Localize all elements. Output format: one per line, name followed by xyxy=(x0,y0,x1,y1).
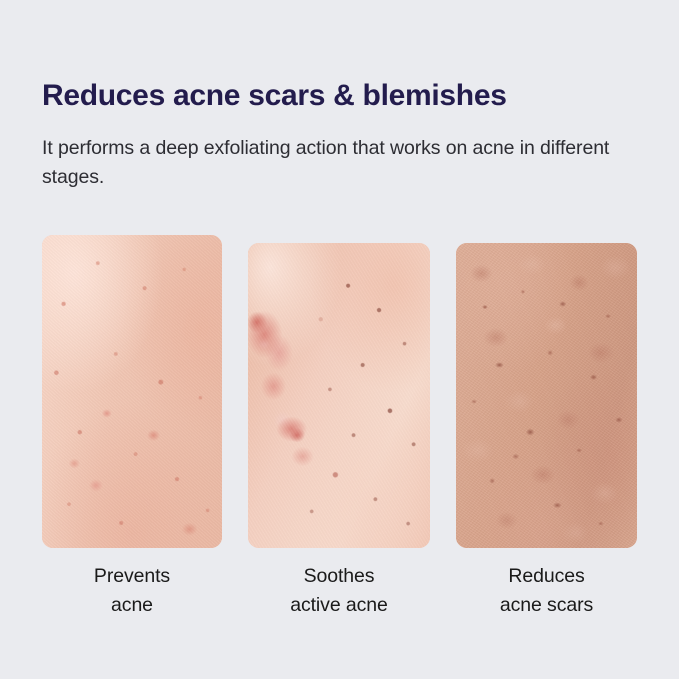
skin-close-up-image-2 xyxy=(248,243,430,548)
caption-line-1: Soothes xyxy=(248,562,430,591)
caption-line-2: acne scars xyxy=(456,591,637,620)
product-benefit-infographic: Reduces acne scars & blemishes It perfor… xyxy=(0,0,679,679)
benefit-caption-prevents-acne: Prevents acne xyxy=(42,562,222,620)
benefit-image-prevents-acne xyxy=(42,235,222,548)
caption-line-2: acne xyxy=(42,591,222,620)
benefit-caption-reduces-acne-scars: Reduces acne scars xyxy=(456,562,637,620)
benefit-image-soothes-active-acne xyxy=(248,243,430,548)
benefit-caption-soothes-active-acne: Soothes active acne xyxy=(248,562,430,620)
caption-line-1: Prevents xyxy=(42,562,222,591)
benefit-panels-row: Prevents acne Soothes active acne Reduce… xyxy=(0,0,679,679)
skin-close-up-image-3 xyxy=(456,243,637,548)
caption-line-2: active acne xyxy=(248,591,430,620)
benefit-image-reduces-acne-scars xyxy=(456,243,637,548)
skin-close-up-image-1 xyxy=(42,235,222,548)
caption-line-1: Reduces xyxy=(456,562,637,591)
